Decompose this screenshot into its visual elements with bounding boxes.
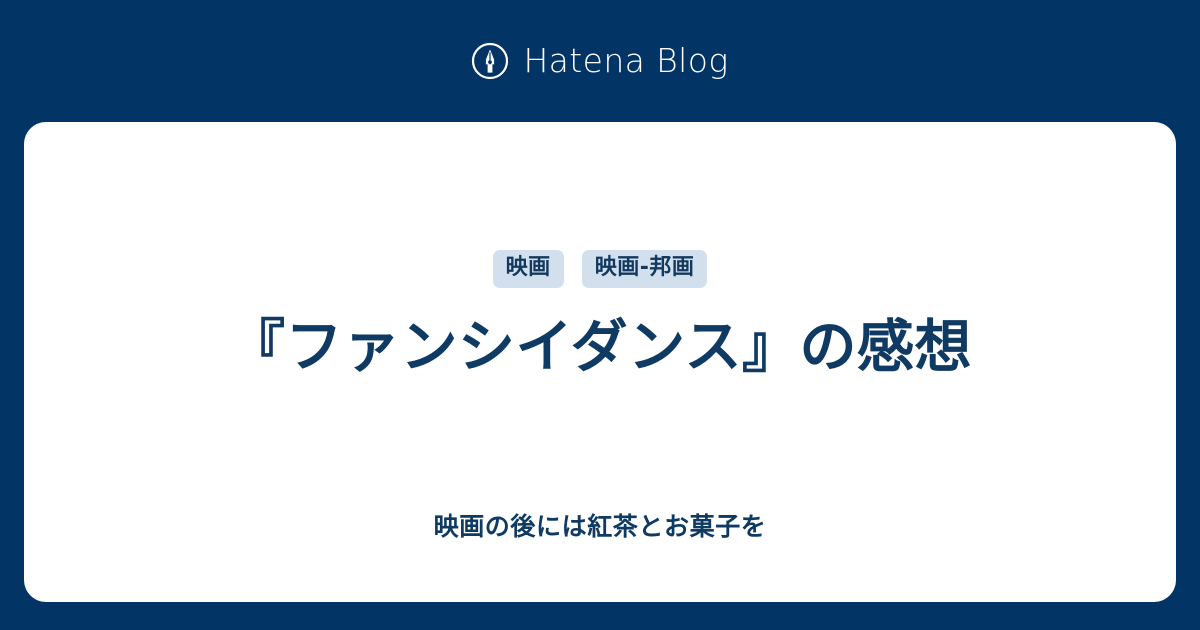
tag-chip-movie[interactable]: 映画 <box>493 250 564 288</box>
tag-list: 映画 映画-邦画 <box>493 250 708 288</box>
ogp-card-canvas: Hatena Blog 映画 映画-邦画 『ファンシイダンス』の感想 映画の後に… <box>0 0 1200 630</box>
tag-chip-movie-japanese[interactable]: 映画-邦画 <box>582 250 708 288</box>
blog-name: 映画の後には紅茶とお菓子を <box>24 510 1176 544</box>
entry-card: 映画 映画-邦画 『ファンシイダンス』の感想 映画の後には紅茶とお菓子を <box>24 122 1176 602</box>
entry-title: 『ファンシイダンス』の感想 <box>188 310 1012 384</box>
brand-header: Hatena Blog <box>0 0 1200 122</box>
pen-nib-in-circle-icon <box>471 42 509 80</box>
brand-name-label: Hatena Blog <box>523 42 728 80</box>
